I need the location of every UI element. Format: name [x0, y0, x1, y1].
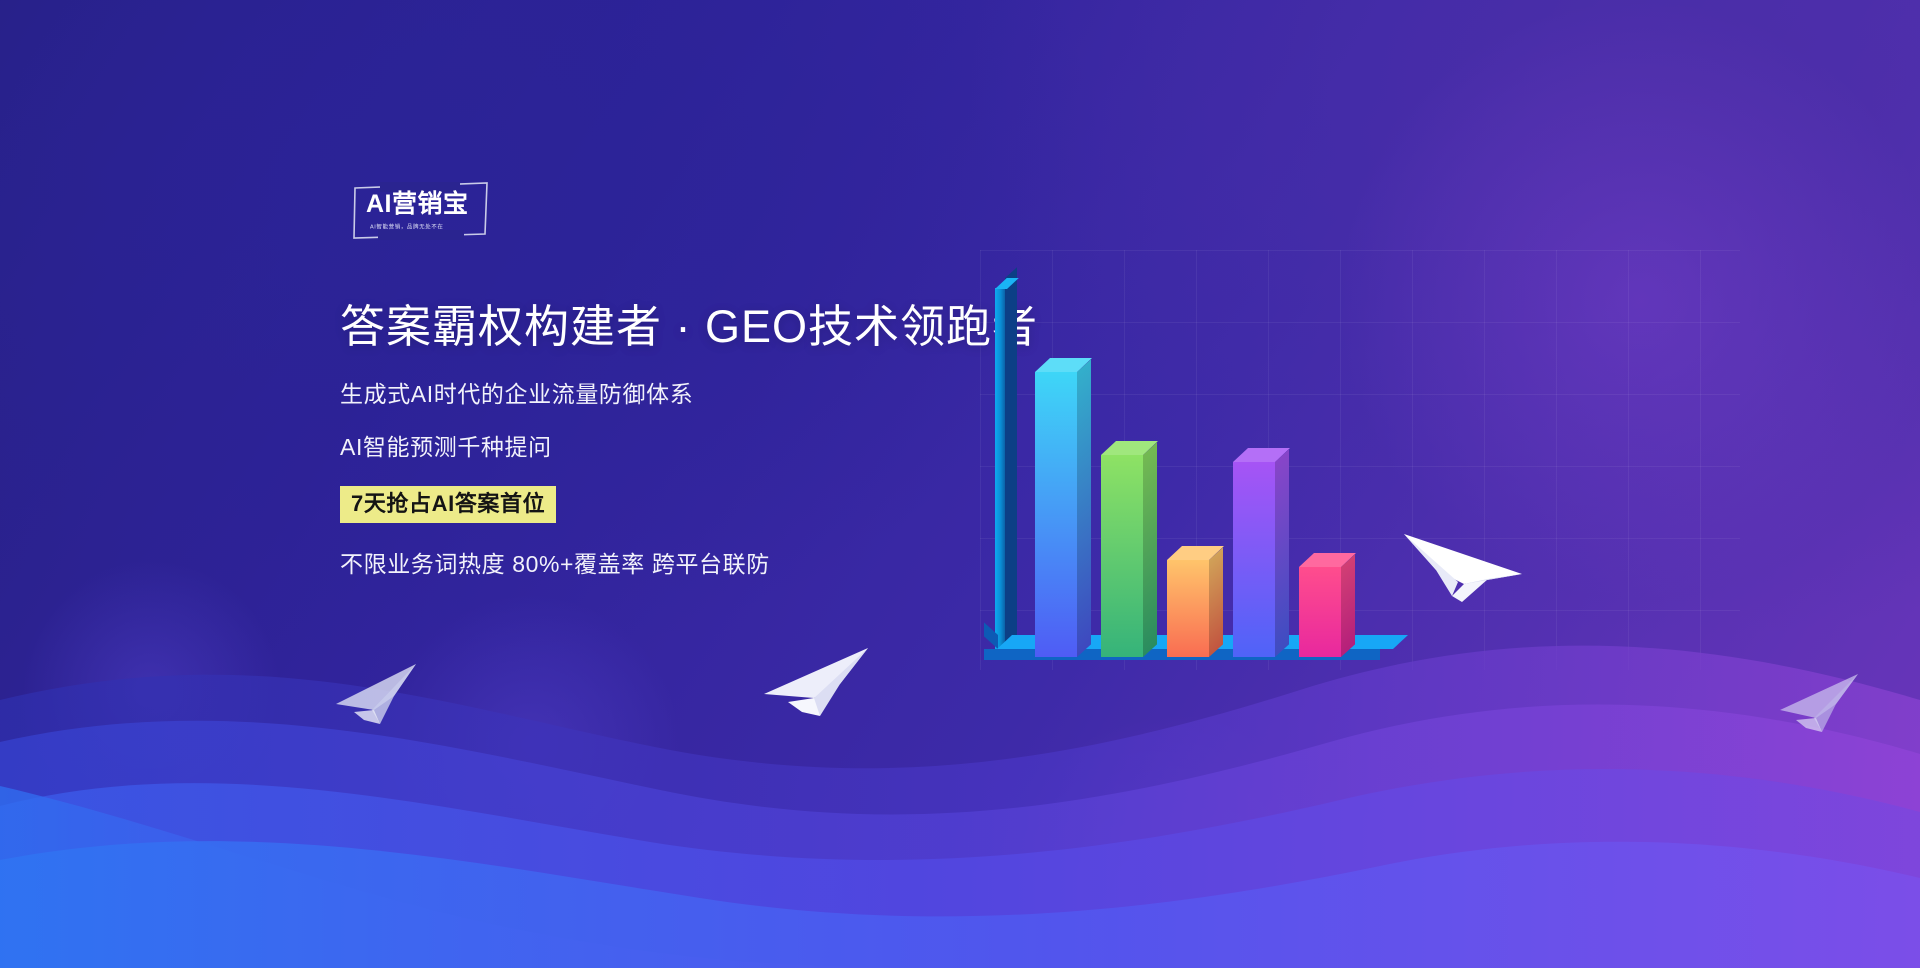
paper-planes: [0, 0, 1920, 968]
paper-plane-icon: [758, 642, 874, 734]
paper-plane-icon: [1396, 512, 1526, 622]
paper-plane-icon: [330, 660, 422, 736]
paper-plane-icon: [1772, 668, 1864, 744]
hero-banner: AI营销宝 AI智能营销，品牌无处不在 答案霸权构建者 · GEO技术领跑者 生…: [0, 0, 1920, 968]
